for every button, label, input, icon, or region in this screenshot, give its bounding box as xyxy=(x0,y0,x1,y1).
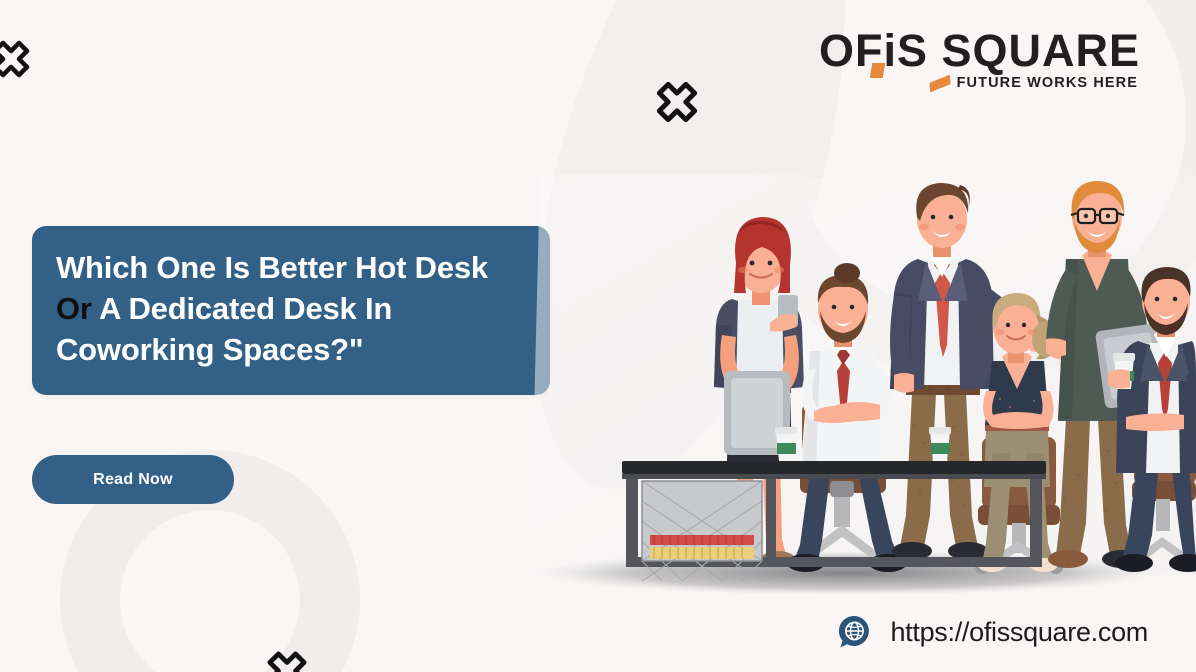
poster-canvas: OFiS SQUARE FUTURE WORKS HERE Which One … xyxy=(0,0,1196,672)
headline-box: Which One Is Better Hot Desk Or A Dedica… xyxy=(32,226,550,395)
page-title: Which One Is Better Hot Desk Or A Dedica… xyxy=(56,248,526,371)
logo-wordmark: OFiS SQUARE xyxy=(819,28,1140,73)
logo-text: OFiS SQUARE xyxy=(819,25,1140,76)
logo-accent-tick xyxy=(870,63,886,78)
headline-line-2-before: Desk xyxy=(415,250,488,285)
x-mark-bottom xyxy=(256,640,318,672)
read-now-button[interactable]: Read Now xyxy=(32,455,234,504)
pencil-icon xyxy=(929,74,950,92)
headline-highlight-or: Or xyxy=(56,291,92,326)
globe-icon xyxy=(836,614,872,650)
x-mark-top-center xyxy=(645,70,709,134)
headline-line-1: Which One Is Better Hot xyxy=(56,250,406,285)
coworking-team-illustration xyxy=(500,175,1196,595)
x-mark-left-edge xyxy=(0,30,40,88)
brand-logo[interactable]: OFiS SQUARE FUTURE WORKS HERE xyxy=(819,28,1140,91)
headline-line-2-after: A Dedicated Desk xyxy=(92,291,357,326)
logo-tagline: FUTURE WORKS HERE xyxy=(957,75,1138,91)
website-url-bar[interactable]: https://ofissquare.com xyxy=(836,614,1148,650)
website-url-text[interactable]: https://ofissquare.com xyxy=(890,617,1148,648)
